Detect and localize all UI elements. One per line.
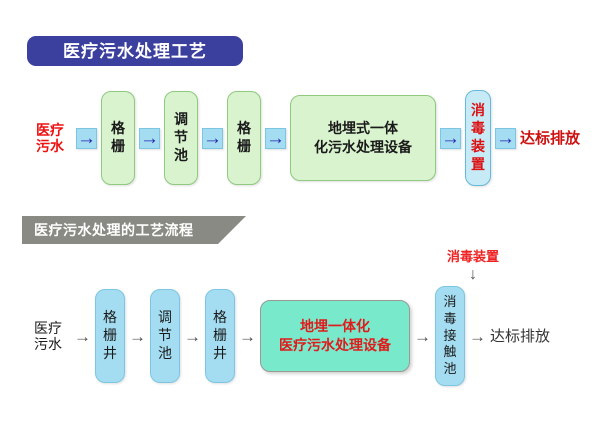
flow2-outlet-label: 达标排放 bbox=[490, 329, 550, 344]
ribbon-tip-shape bbox=[218, 216, 246, 244]
flow2-annotation-text: 消毒装置 bbox=[430, 250, 516, 263]
arrow-right-icon: → bbox=[74, 328, 91, 345]
arrow-right-icon: → bbox=[129, 328, 146, 345]
arrow-right-icon: → bbox=[239, 328, 256, 345]
flow2-step-equalization-tank[interactable]: 调 节 池 bbox=[150, 289, 180, 383]
arrow-right-icon: → bbox=[469, 328, 486, 345]
section-1-title-banner: 医疗污水处理工艺 bbox=[27, 36, 243, 66]
arrow-down-icon: ↓ bbox=[430, 267, 516, 283]
arrow-right-icon: → bbox=[139, 128, 160, 149]
section-1-title-text: 医疗污水处理工艺 bbox=[63, 43, 207, 60]
flow2-step-grating-well-1[interactable]: 格 栅 井 bbox=[95, 289, 125, 383]
arrow-right-icon: → bbox=[184, 328, 201, 345]
flow2-step-disinfection-contact-tank[interactable]: 消 毒 接 触 池 bbox=[435, 286, 465, 386]
flow2-step-grating-well-2[interactable]: 格 栅 井 bbox=[205, 289, 235, 383]
arrow-right-icon: → bbox=[495, 128, 516, 149]
flow1-step-disinfection-unit[interactable]: 消 毒 装 置 bbox=[465, 90, 491, 186]
flow2-inlet-label: 医疗 污水 bbox=[26, 320, 70, 352]
arrow-right-icon: → bbox=[76, 128, 97, 149]
flow2-step-buried-integrated-equipment[interactable]: 地埋一体化 医疗污水处理设备 bbox=[260, 300, 410, 372]
arrow-right-icon: → bbox=[265, 128, 286, 149]
arrow-right-icon: → bbox=[414, 328, 431, 345]
section-2-title-banner: 医疗污水处理的工艺流程 bbox=[22, 216, 246, 244]
flow1-step-equalization-tank[interactable]: 调 节 池 bbox=[164, 91, 198, 185]
flow1-step-grating-2[interactable]: 格 栅 bbox=[227, 91, 261, 185]
arrow-right-icon: → bbox=[202, 128, 223, 149]
flow1-step-buried-integrated-equipment[interactable]: 地埋式一体 化污水处理设备 bbox=[290, 95, 436, 181]
flow1-step-grating-1[interactable]: 格 栅 bbox=[101, 91, 135, 185]
section-2-title-text: 医疗污水处理的工艺流程 bbox=[34, 216, 194, 244]
flow2-disinfection-annotation: 消毒装置 ↓ bbox=[430, 250, 516, 283]
arrow-right-icon: → bbox=[440, 128, 461, 149]
flow-diagram-1: 医疗 污水 → 格 栅 → 调 节 池 → 格 栅 → 地埋式一体 化污水处理设… bbox=[28, 90, 580, 186]
flow-diagram-2: 医疗 污水 → 格 栅 井 → 调 节 池 → 格 栅 井 → 地埋一体化 医疗… bbox=[26, 288, 550, 384]
flow1-inlet-label: 医疗 污水 bbox=[28, 122, 72, 154]
flow1-outlet-label: 达标排放 bbox=[520, 131, 580, 146]
